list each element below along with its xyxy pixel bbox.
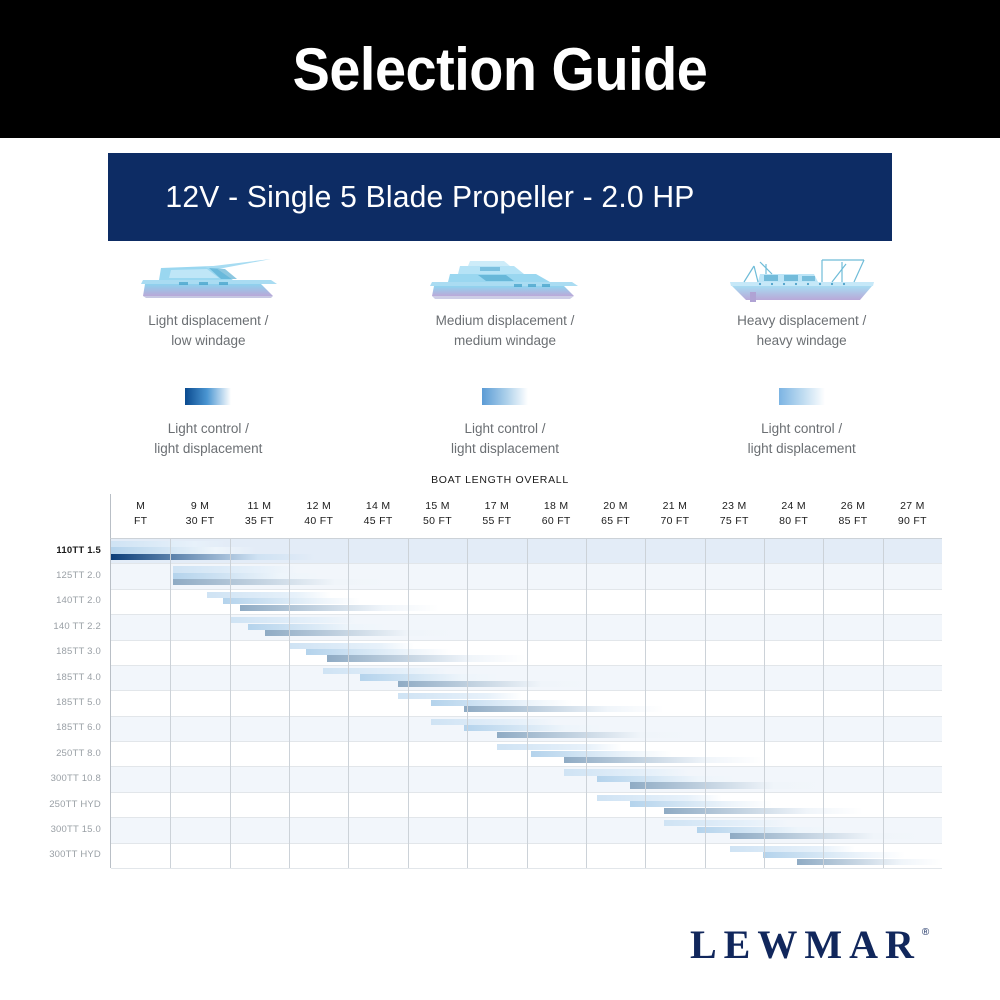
grid-line-vertical: [586, 539, 587, 868]
chart-row-label: 110TT 1.5: [32, 546, 110, 556]
column-header: 21 M70 FT: [645, 494, 704, 538]
top-banner: Selection Guide: [0, 0, 1000, 138]
chart-bar: [431, 719, 556, 725]
column-header-metric: 15 M: [408, 499, 467, 514]
chart-row-label: 185TT 3.0: [32, 647, 110, 657]
chart-grid: [110, 538, 942, 868]
chart-bar: [207, 592, 332, 598]
chart-bar: [630, 782, 829, 788]
chart-row-label: 140TT 2.0: [32, 596, 110, 606]
column-header-imperial: 45 FT: [348, 514, 407, 529]
column-header: 24 M80 FT: [764, 494, 823, 538]
column-header-imperial: 80 FT: [764, 514, 823, 529]
column-header: 14 M45 FT: [348, 494, 407, 538]
column-header-metric: 12 M: [289, 499, 348, 514]
gradient-swatch-mid: [482, 388, 528, 405]
grid-line-vertical: [823, 539, 824, 868]
grid-line-vertical: [408, 539, 409, 868]
sailing-yacht-icon: [714, 252, 889, 304]
column-header: 11 M35 FT: [230, 494, 289, 538]
chart-column-headers: MFT9 M30 FT11 M35 FT12 M40 FT14 M45 FT15…: [110, 494, 942, 538]
legend-caption: Light displacement / low windage: [148, 311, 268, 351]
chart-row-label: 140 TT 2.2: [32, 622, 110, 632]
chart-bar: [730, 846, 855, 852]
legend-caption: Light control / light displacement: [748, 419, 856, 459]
legend-caption: Medium displacement / medium windage: [436, 311, 575, 351]
chart-row-label: 185TT 5.0: [32, 698, 110, 708]
column-header-metric: 24 M: [764, 499, 823, 514]
column-header-imperial: 60 FT: [527, 514, 586, 529]
chart-bar: [398, 681, 597, 687]
chart-bar: [431, 700, 572, 706]
grid-line-vertical: [230, 539, 231, 868]
grid-line-vertical: [883, 539, 884, 868]
grid-line-vertical: [348, 539, 349, 868]
chart-row-label: 250TT 8.0: [32, 749, 110, 759]
grid-line-vertical: [467, 539, 468, 868]
column-header-imperial: 65 FT: [586, 514, 645, 529]
chart-bar: [597, 776, 738, 782]
chart-bar: [797, 859, 942, 865]
chart-bar: [398, 693, 523, 699]
chart-bar: [323, 668, 448, 674]
column-header: 9 M30 FT: [170, 494, 229, 538]
chart-bar: [327, 655, 526, 661]
legend-caption: Heavy displacement / heavy windage: [737, 311, 866, 351]
chart-bar: [111, 547, 256, 553]
column-header-metric: 17 M: [467, 499, 526, 514]
chart-axis-title: BOAT LENGTH OVERALL: [0, 474, 1000, 486]
column-header-imperial: 55 FT: [467, 514, 526, 529]
chart-row-labels: 110TT 1.5125TT 2.0140TT 2.0140 TT 2.2185…: [32, 538, 110, 868]
column-header-metric: 27 M: [883, 499, 942, 514]
legend-item-medium-displacement: Medium displacement / medium windage: [357, 252, 654, 352]
chart-row-label: 300TT 15.0: [32, 825, 110, 835]
column-header-metric: 21 M: [645, 499, 704, 514]
chart-bar: [497, 744, 622, 750]
grid-line-vertical: [645, 539, 646, 868]
chart-bar: [360, 674, 501, 680]
lewmar-logo: LEWMAR ®: [690, 925, 929, 965]
page-title: Selection Guide: [293, 35, 708, 104]
chart-bar: [564, 769, 689, 775]
chart-bar: [531, 751, 672, 757]
chart-bar: [730, 833, 929, 839]
grid-line-vertical: [527, 539, 528, 868]
column-header-metric: 9 M: [170, 499, 229, 514]
column-header-metric: 18 M: [527, 499, 586, 514]
gradient-swatch-light: [779, 388, 825, 405]
column-header: 27 M90 FT: [883, 494, 942, 538]
legend-item-light-control-1: Light control / light displacement: [60, 388, 357, 468]
chart-row-label: 185TT 6.0: [32, 723, 110, 733]
chart-bar: [664, 820, 789, 826]
column-header: 26 M85 FT: [823, 494, 882, 538]
column-header-metric: 14 M: [348, 499, 407, 514]
column-header-imperial: 85 FT: [823, 514, 882, 529]
chart-bar: [265, 630, 464, 636]
column-header-metric: 26 M: [823, 499, 882, 514]
column-header: 18 M60 FT: [527, 494, 586, 538]
chart-bar: [173, 566, 298, 572]
motor-yacht-icon: [121, 252, 296, 304]
chart-row-label: 300TT 10.8: [32, 774, 110, 784]
column-header-imperial: 30 FT: [170, 514, 229, 529]
boat-type-legend: Light displacement / low windage: [60, 252, 950, 352]
chart-row-label: 185TT 4.0: [32, 673, 110, 683]
chart-bar: [223, 598, 360, 604]
column-header-imperial: 35 FT: [230, 514, 289, 529]
chart-bar: [290, 643, 415, 649]
grid-line-vertical: [764, 539, 765, 868]
column-header-imperial: 70 FT: [645, 514, 704, 529]
product-subtitle-bar: 12V - Single 5 Blade Propeller - 2.0 HP: [108, 153, 892, 241]
gradient-swatch-dark: [185, 388, 231, 405]
chart-bar: [597, 795, 722, 801]
selection-chart: MFT9 M30 FT11 M35 FT12 M40 FT14 M45 FT15…: [32, 494, 942, 874]
control-level-legend: Light control / light displacement Light…: [60, 388, 950, 468]
chart-bar: [173, 579, 397, 585]
column-header-metric: 23 M: [705, 499, 764, 514]
chart-bar: [464, 725, 605, 731]
logo-wordmark: LEWMAR: [690, 925, 921, 965]
legend-caption: Light control / light displacement: [451, 419, 559, 459]
chart-bar: [173, 573, 323, 579]
selection-guide-page: Selection Guide 12V - Single 5 Blade Pro…: [0, 0, 1000, 1000]
grid-line-vertical: [705, 539, 706, 868]
column-header: 12 M40 FT: [289, 494, 348, 538]
column-header-metric: 11 M: [230, 499, 289, 514]
chart-bar: [464, 706, 663, 712]
legend-item-light-control-2: Light control / light displacement: [357, 388, 654, 468]
column-header: 23 M75 FT: [705, 494, 764, 538]
legend-caption: Light control / light displacement: [154, 419, 262, 459]
chart-row-label: 300TT HYD: [32, 850, 110, 860]
legend-item-light-displacement: Light displacement / low windage: [60, 252, 357, 352]
column-header-imperial: FT: [111, 514, 170, 529]
chart-bar: [240, 605, 439, 611]
column-header-metric: 20 M: [586, 499, 645, 514]
column-header-imperial: 90 FT: [883, 514, 942, 529]
column-header: 20 M65 FT: [586, 494, 645, 538]
column-header-imperial: 50 FT: [408, 514, 467, 529]
chart-bar: [111, 541, 227, 547]
column-header-imperial: 75 FT: [705, 514, 764, 529]
legend-item-light-control-3: Light control / light displacement: [653, 388, 950, 468]
legend-item-heavy-displacement: Heavy displacement / heavy windage: [653, 252, 950, 352]
column-header: 17 M55 FT: [467, 494, 526, 538]
product-subtitle: 12V - Single 5 Blade Propeller - 2.0 HP: [117, 179, 695, 215]
chart-bar: [564, 757, 763, 763]
column-header-imperial: 40 FT: [289, 514, 348, 529]
chart-bar: [248, 624, 389, 630]
chart-bar: [111, 554, 315, 560]
chart-bar: [231, 617, 356, 623]
chart-bar: [630, 801, 771, 807]
grid-line-vertical: [170, 539, 171, 868]
chart-bar: [697, 827, 838, 833]
large-motor-yacht-icon: [418, 252, 593, 304]
registered-trademark-icon: ®: [922, 927, 929, 938]
chart-bar: [306, 649, 451, 655]
column-header: MFT: [111, 494, 170, 538]
column-header: 15 M50 FT: [408, 494, 467, 538]
chart-row-label: 125TT 2.0: [32, 571, 110, 581]
column-header-metric: M: [111, 499, 170, 514]
grid-line-vertical: [289, 539, 290, 868]
chart-row-label: 250TT HYD: [32, 800, 110, 810]
